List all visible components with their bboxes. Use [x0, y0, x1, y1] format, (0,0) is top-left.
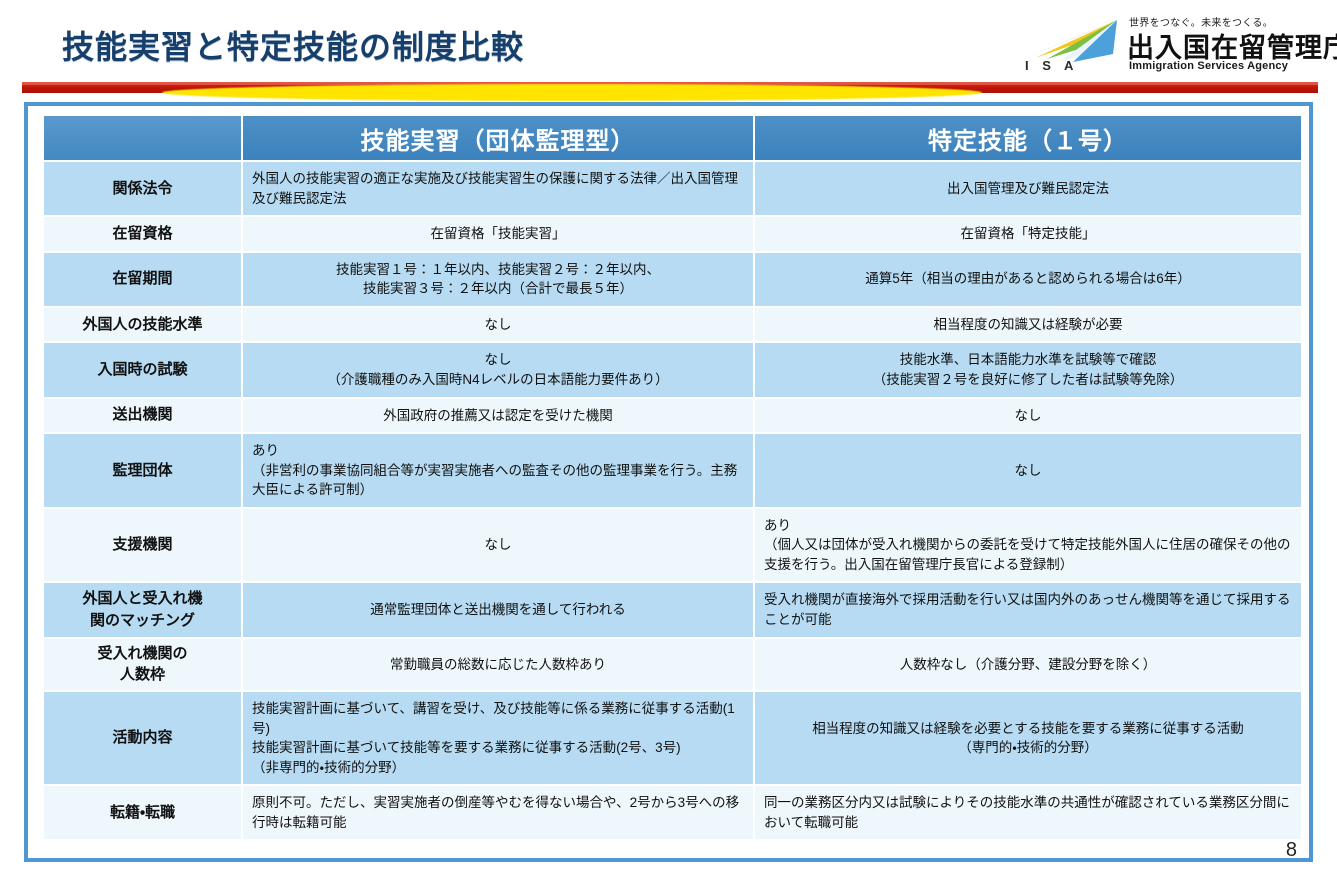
row-label: 支援機関 [44, 509, 241, 582]
page-number: 8 [1286, 839, 1297, 862]
table-row: 在留資格在留資格「技能実習」在留資格「特定技能」 [44, 217, 1301, 251]
cell-ginou: 常勤職員の総数に応じた人数枠あり [243, 639, 753, 691]
cell-tokutei: 人数枠なし（介護分野、建設分野を除く） [755, 639, 1301, 691]
table-row: 関係法令外国人の技能実習の適正な実施及び技能実習生の保護に関する法律／出入国管理… [44, 162, 1301, 215]
cell-ginou: なし [243, 308, 753, 342]
table-row: 外国人の技能水準なし相当程度の知識又は経験が必要 [44, 308, 1301, 342]
cell-tokutei: 同一の業務区分内又は試験によりその技能水準の共通性が確認されている業務区分間にお… [755, 786, 1301, 839]
title-block: 技能実習と特定技能の制度比較 [62, 22, 524, 68]
row-label: 関係法令 [44, 162, 241, 215]
cell-ginou: なし（介護職種のみ入国時N4レベルの日本語能力要件あり） [243, 343, 753, 396]
row-label: 在留資格 [44, 217, 241, 251]
table-row: 送出機関外国政府の推薦又は認定を受けた機関なし [44, 399, 1301, 433]
cell-tokutei: 受入れ機関が直接海外で採用活動を行い又は国内外のあっせん機関等を通じて採用するこ… [755, 583, 1301, 636]
table-row: 活動内容技能実習計画に基づいて、講習を受け、及び技能等に係る業務に従事する活動(… [44, 692, 1301, 784]
table-header-row: 技能実習（団体監理型） 特定技能（１号） [44, 116, 1301, 160]
cell-tokutei: 通算5年（相当の理由があると認められる場合は6年） [755, 253, 1301, 306]
row-label: 送出機関 [44, 399, 241, 433]
table-body: 関係法令外国人の技能実習の適正な実施及び技能実習生の保護に関する法律／出入国管理… [44, 162, 1301, 839]
page-title: 技能実習と特定技能の制度比較 [62, 22, 524, 68]
table-row: 転籍・転職原則不可。ただし、実習実施者の倒産等やむを得ない場合や、2号から3号へ… [44, 786, 1301, 839]
row-label: 監理団体 [44, 434, 241, 507]
cell-ginou: 外国政府の推薦又は認定を受けた機関 [243, 399, 753, 433]
row-label: 入国時の試験 [44, 343, 241, 396]
cell-ginou: 原則不可。ただし、実習実施者の倒産等やむを得ない場合や、2号から3号への移行時は… [243, 786, 753, 839]
cell-ginou: 技能実習１号：１年以内、技能実習２号：２年以内、技能実習３号：２年以内（合計で最… [243, 253, 753, 306]
title-highlight-ellipse [162, 84, 982, 101]
table-row: 外国人と受入れ機関のマッチング通常監理団体と送出機関を通して行われる受入れ機関が… [44, 583, 1301, 636]
row-label: 活動内容 [44, 692, 241, 784]
table-header-ginou: 技能実習（団体監理型） [243, 116, 753, 160]
isa-name-en: Immigration Services Agency [1129, 60, 1288, 72]
table-row: 受入れ機関の人数枠常勤職員の総数に応じた人数枠あり人数枠なし（介護分野、建設分野… [44, 639, 1301, 691]
cell-ginou: あり（非営利の事業協同組合等が実習実施者への監査その他の監理事業を行う。主務大臣… [243, 434, 753, 507]
cell-tokutei: あり（個人又は団体が受入れ機関からの委託を受けて特定技能外国人に住居の確保その他… [755, 509, 1301, 582]
isa-abbreviation: I S A [1025, 58, 1078, 73]
table-header-corner [44, 116, 241, 160]
cell-tokutei: 相当程度の知識又は経験を必要とする技能を要する業務に従事する活動（専門的・技術的… [755, 692, 1301, 784]
cell-ginou: なし [243, 509, 753, 582]
comparison-table: 技能実習（団体監理型） 特定技能（１号） 関係法令外国人の技能実習の適正な実施及… [42, 114, 1303, 841]
table-row: 支援機関なしあり（個人又は団体が受入れ機関からの委託を受けて特定技能外国人に住居… [44, 509, 1301, 582]
row-label: 外国人と受入れ機関のマッチング [44, 583, 241, 636]
cell-ginou: 在留資格「技能実習」 [243, 217, 753, 251]
isa-logo: I S A 世界をつなぐ。未来をつくる。 出入国在留管理庁 Immigratio… [1017, 14, 1317, 80]
table-row: 入国時の試験なし（介護職種のみ入国時N4レベルの日本語能力要件あり）技能水準、日… [44, 343, 1301, 396]
page-header: 技能実習と特定技能の制度比較 I S A 世界をつなぐ。未来をつくる。 出入国在… [0, 0, 1337, 100]
cell-tokutei: 出入国管理及び難民認定法 [755, 162, 1301, 215]
table-header-tokutei: 特定技能（１号） [755, 116, 1301, 160]
cell-tokutei: 在留資格「特定技能」 [755, 217, 1301, 251]
row-label: 受入れ機関の人数枠 [44, 639, 241, 691]
cell-tokutei: 技能水準、日本語能力水準を試験等で確認（技能実習２号を良好に修了した者は試験等免… [755, 343, 1301, 396]
row-label: 外国人の技能水準 [44, 308, 241, 342]
cell-tokutei: なし [755, 434, 1301, 507]
cell-tokutei: 相当程度の知識又は経験が必要 [755, 308, 1301, 342]
row-label: 在留期間 [44, 253, 241, 306]
cell-ginou: 通常監理団体と送出機関を通して行われる [243, 583, 753, 636]
table-row: 在留期間技能実習１号：１年以内、技能実習２号：２年以内、技能実習３号：２年以内（… [44, 253, 1301, 306]
cell-ginou: 外国人の技能実習の適正な実施及び技能実習生の保護に関する法律／出入国管理及び難民… [243, 162, 753, 215]
cell-tokutei: なし [755, 399, 1301, 433]
row-label: 転籍・転職 [44, 786, 241, 839]
comparison-table-frame: 技能実習（団体監理型） 特定技能（１号） 関係法令外国人の技能実習の適正な実施及… [24, 102, 1313, 862]
cell-ginou: 技能実習計画に基づいて、講習を受け、及び技能等に係る業務に従事する活動(1号)技… [243, 692, 753, 784]
table-row: 監理団体あり（非営利の事業協同組合等が実習実施者への監査その他の監理事業を行う。… [44, 434, 1301, 507]
